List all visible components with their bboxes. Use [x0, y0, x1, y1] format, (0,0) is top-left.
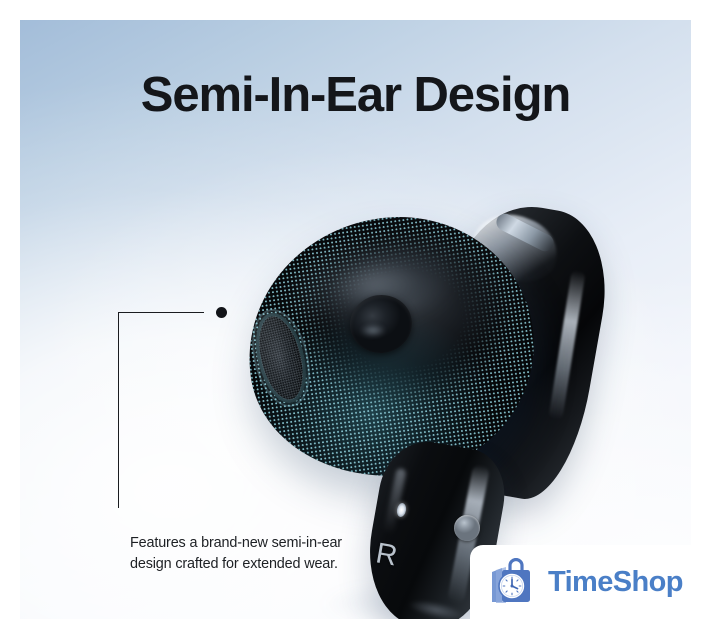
earbud-sensor-highlight — [360, 324, 386, 337]
callout-anchor-dot — [216, 307, 227, 318]
callout-caption: Features a brand-new semi-in-ear design … — [130, 533, 380, 576]
brand-badge: TimeShop — [470, 545, 691, 619]
shopping-bag-clock-icon — [487, 558, 541, 606]
brand-name: TimeShop — [548, 566, 683, 599]
callout-leader-line — [118, 312, 204, 508]
product-hero-canvas: Semi-In-Ear Design — [20, 20, 691, 619]
image-frame: Semi-In-Ear Design — [0, 0, 711, 640]
